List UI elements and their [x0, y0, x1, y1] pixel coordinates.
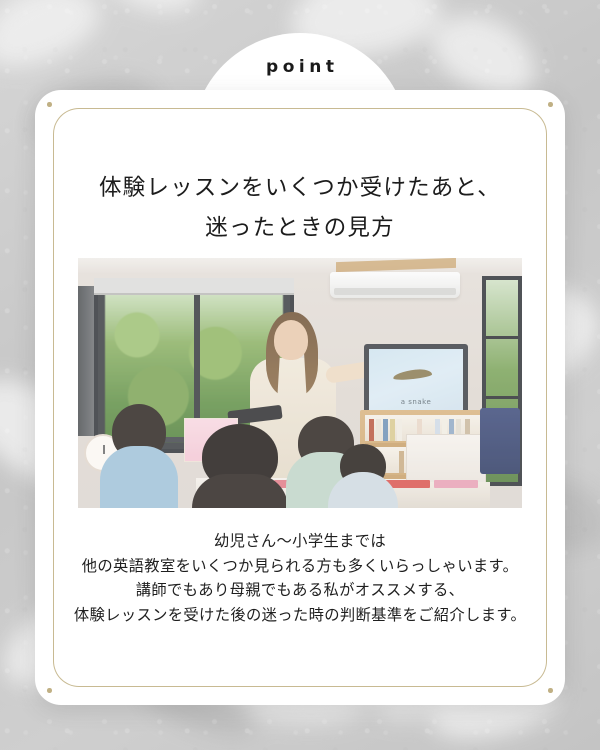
body-line: 体験レッスンを受けた後の迷った時の判断基準をご紹介します。 — [59, 604, 541, 629]
air-conditioner — [330, 272, 460, 298]
student-4 — [328, 442, 398, 508]
student-1 — [100, 398, 178, 508]
student-2 — [192, 424, 288, 508]
door-edge — [78, 286, 94, 436]
body-line: 講師でもあり母親でもある私がオススメする、 — [59, 579, 541, 604]
school-bag — [480, 408, 520, 474]
snake-illustration — [393, 368, 433, 381]
body-line: 幼児さん〜小学生までは — [59, 530, 541, 555]
content-card: 体験レッスンをいくつか受けたあと、 迷ったときの見方 — [35, 90, 565, 705]
television: a snake — [364, 344, 468, 420]
lesson-photo: a snake — [78, 258, 522, 508]
body-text: 幼児さん〜小学生までは 他の英語教室をいくつか見られる方も多くいらっしゃいます。… — [59, 530, 541, 628]
page-root: point 体験レッスンをいくつか受けたあと、 迷ったときの見方 — [0, 0, 600, 750]
teacher-head — [274, 320, 308, 360]
body-line: 他の英語教室をいくつか見られる方も多くいらっしゃいます。 — [59, 555, 541, 580]
page-title: 体験レッスンをいくつか受けたあと、 迷ったときの見方 — [65, 168, 535, 248]
point-badge-label: point — [192, 57, 408, 77]
desk-book-c — [434, 480, 478, 488]
tv-caption: a snake — [369, 398, 463, 406]
window-blind-box — [94, 278, 294, 295]
